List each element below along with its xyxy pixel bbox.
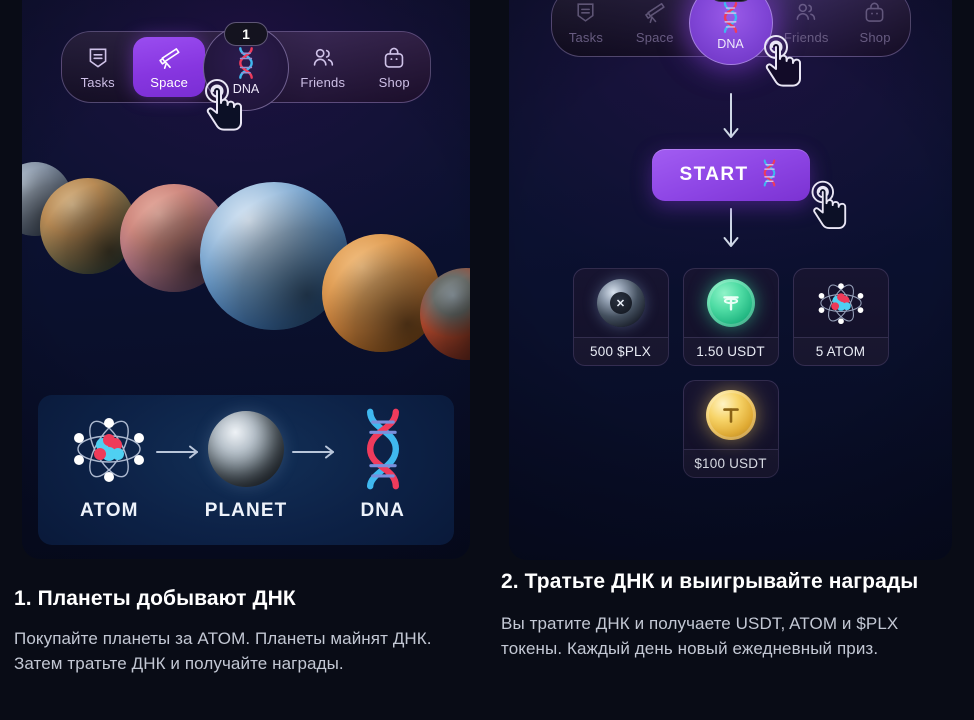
resource-flow-strip: ATOM PLANET (38, 395, 454, 545)
dna-count-badge: 1 (709, 0, 753, 2)
start-button[interactable]: START (652, 149, 810, 201)
usdt-green-coin-icon (684, 269, 778, 337)
grand-prize-row: $100 USDT (509, 380, 952, 478)
nav-label: Tasks (569, 31, 603, 44)
dna-helix-icon (758, 158, 781, 193)
left-bottom-nav: Tasks Space (22, 31, 470, 103)
reward-label: 500 $PLX (574, 337, 668, 365)
planet-icon (208, 408, 284, 490)
dna-helix-icon (717, 1, 745, 35)
plx-coin-icon: ✕ (574, 269, 668, 337)
nav-label: DNA (233, 82, 259, 96)
nav-item-friends[interactable]: Friends (772, 0, 841, 56)
left-app-screenshot: Tasks Space (22, 0, 470, 559)
reward-label: 5 ATOM (794, 337, 888, 365)
nav-label: DNA (717, 37, 743, 51)
caption-body: Вы тратите ДНК и получаете USDT, ATOM и … (501, 612, 961, 661)
flow-arrow-2 (509, 207, 952, 258)
nav-bar: Tasks Space (551, 0, 911, 57)
nav-label: Tasks (81, 76, 115, 89)
nav-item-space[interactable]: Space (620, 0, 689, 56)
nav-label: Space (150, 76, 188, 89)
nav-item-friends[interactable]: Friends (287, 32, 358, 102)
right-app-screenshot: Tasks Space (509, 0, 952, 560)
caption-body: Покупайте планеты за ATOM. Планеты майня… (14, 627, 474, 676)
usdt-gold-coin-icon (684, 381, 778, 449)
arrow-right-icon (155, 444, 201, 460)
dna-helix-icon (353, 408, 413, 490)
flow-label: DNA (360, 500, 404, 522)
friends-icon (310, 45, 336, 71)
telescope-icon (642, 0, 668, 26)
caption-title: 1. Планеты добывают ДНК (14, 585, 474, 613)
arrow-right-icon (291, 444, 337, 460)
grand-prize-label: $100 USDT (684, 449, 778, 477)
shopping-bag-icon (381, 45, 407, 71)
caption-title: 2. Тратьте ДНК и выигрывайте награды (501, 568, 961, 596)
atom-icon (794, 269, 888, 337)
left-column: Tasks Space (0, 0, 487, 720)
right-bottom-nav: Tasks Space (509, 0, 952, 57)
nav-item-shop[interactable]: Shop (841, 0, 910, 56)
nav-item-shop[interactable]: Shop (359, 32, 430, 102)
flow-label: PLANET (205, 500, 288, 522)
shield-badge-icon (85, 45, 111, 71)
comparison-stage: Tasks Space (0, 0, 974, 720)
rewards-row: ✕ 500 $PLX 1.50 USDT (509, 268, 952, 366)
reward-card[interactable]: 1.50 USDT (683, 268, 779, 366)
grand-prize-card[interactable]: $100 USDT (683, 380, 779, 478)
nav-label: Friends (300, 76, 345, 89)
reward-card[interactable]: ✕ 500 $PLX (573, 268, 669, 366)
start-button-label: START (680, 164, 749, 186)
nav-item-tasks[interactable]: Tasks (552, 0, 621, 56)
telescope-icon (156, 45, 182, 71)
flow-node-dna: DNA (337, 408, 428, 522)
reward-label: 1.50 USDT (684, 337, 778, 365)
nav-label: Friends (784, 31, 829, 44)
planet-amber (322, 234, 440, 352)
flow-arrow-1 (509, 92, 952, 149)
arrow-down-icon (721, 92, 741, 149)
start-button-wrap: START (509, 149, 952, 201)
dna-helix-icon (232, 46, 260, 80)
reward-card[interactable]: 5 ATOM (793, 268, 889, 366)
nav-item-tasks[interactable]: Tasks (62, 32, 133, 102)
nav-bar: Tasks Space (61, 31, 431, 103)
atom-icon (66, 408, 152, 490)
dna-count-badge: 1 (224, 22, 268, 46)
planet-row (22, 156, 470, 371)
shopping-bag-icon (862, 0, 888, 26)
left-caption: 1. Планеты добывают ДНК Покупайте планет… (14, 585, 474, 677)
right-caption: 2. Тратьте ДНК и выигрывайте награды Вы … (501, 568, 961, 662)
flow-node-planet: PLANET (201, 408, 292, 522)
friends-icon (793, 0, 819, 26)
nav-label: Shop (379, 76, 410, 89)
nav-item-dna[interactable]: 1 DNA (203, 25, 289, 111)
flow-label: ATOM (80, 500, 139, 522)
nav-label: Space (636, 31, 674, 44)
nav-label: Shop (859, 31, 890, 44)
nav-item-space[interactable]: Space (133, 37, 204, 97)
arrow-down-icon (721, 207, 741, 258)
flow-node-atom: ATOM (64, 408, 155, 522)
right-column: Tasks Space (487, 0, 974, 720)
shield-badge-icon (573, 0, 599, 26)
